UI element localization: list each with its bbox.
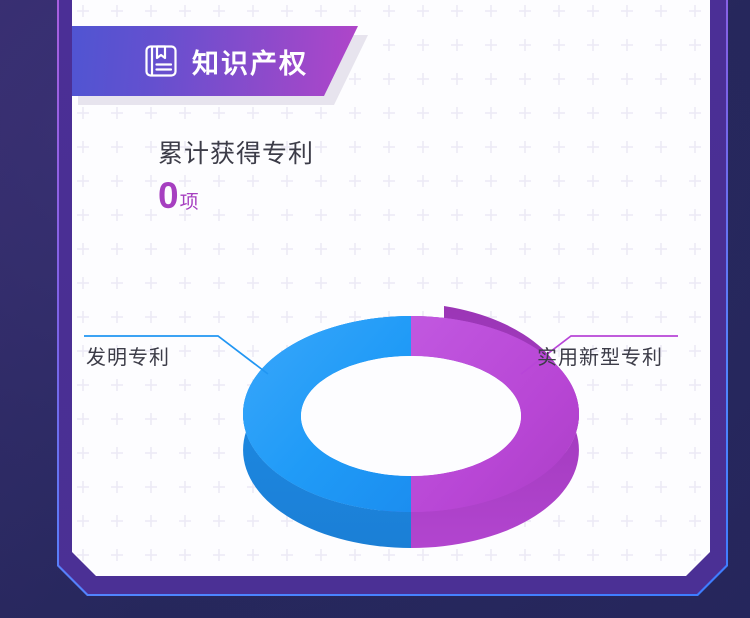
- chart-label-invention: 发明专利: [86, 341, 170, 370]
- callout-lines: [72, 0, 710, 576]
- content-card: 知识产权 累计获得专利 0 项: [72, 0, 710, 576]
- chart-label-utility: 实用新型专利: [537, 341, 663, 370]
- screen-root: 知识产权 累计获得专利 0 项: [0, 0, 750, 618]
